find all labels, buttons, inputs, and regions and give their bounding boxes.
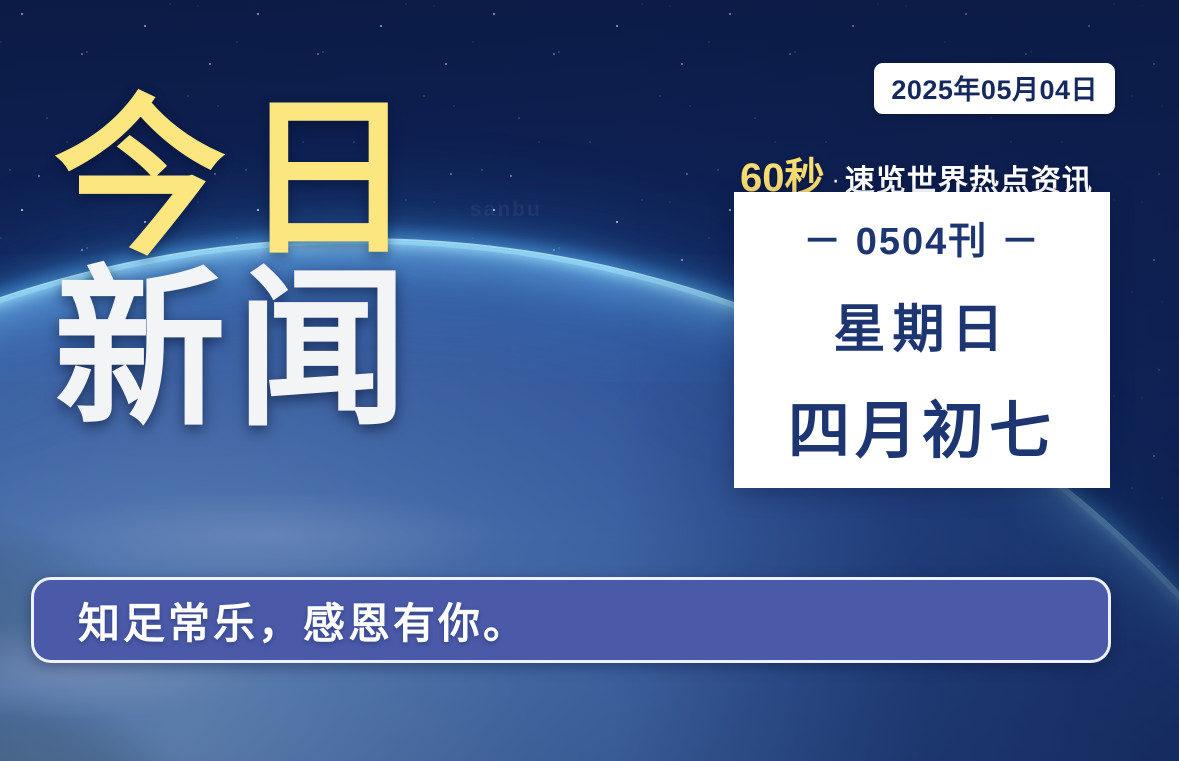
- quote-text: 知足常乐，感恩有你。: [78, 590, 528, 651]
- issue-number: － 0504刊 －: [803, 210, 1041, 265]
- tagline-separator: ·: [832, 166, 840, 195]
- news-poster: sanbu 2025年05月04日 今日 新闻 60秒 · 速览世界热点资讯 －…: [0, 0, 1179, 761]
- date-info-card: － 0504刊 － 星期日 四月初七: [734, 192, 1110, 488]
- page-title: 今日 新闻: [54, 96, 430, 432]
- lunar-date-label: 四月初七: [788, 380, 1056, 470]
- title-line-1: 今日: [54, 96, 430, 261]
- quote-banner: 知足常乐，感恩有你。: [31, 577, 1111, 663]
- title-line-2: 新闻: [54, 267, 430, 432]
- date-badge: 2025年05月04日: [874, 63, 1115, 114]
- poster-content: 2025年05月04日 今日 新闻 60秒 · 速览世界热点资讯 － 0504刊…: [0, 0, 1179, 761]
- weekday-label: 星期日: [833, 287, 1010, 362]
